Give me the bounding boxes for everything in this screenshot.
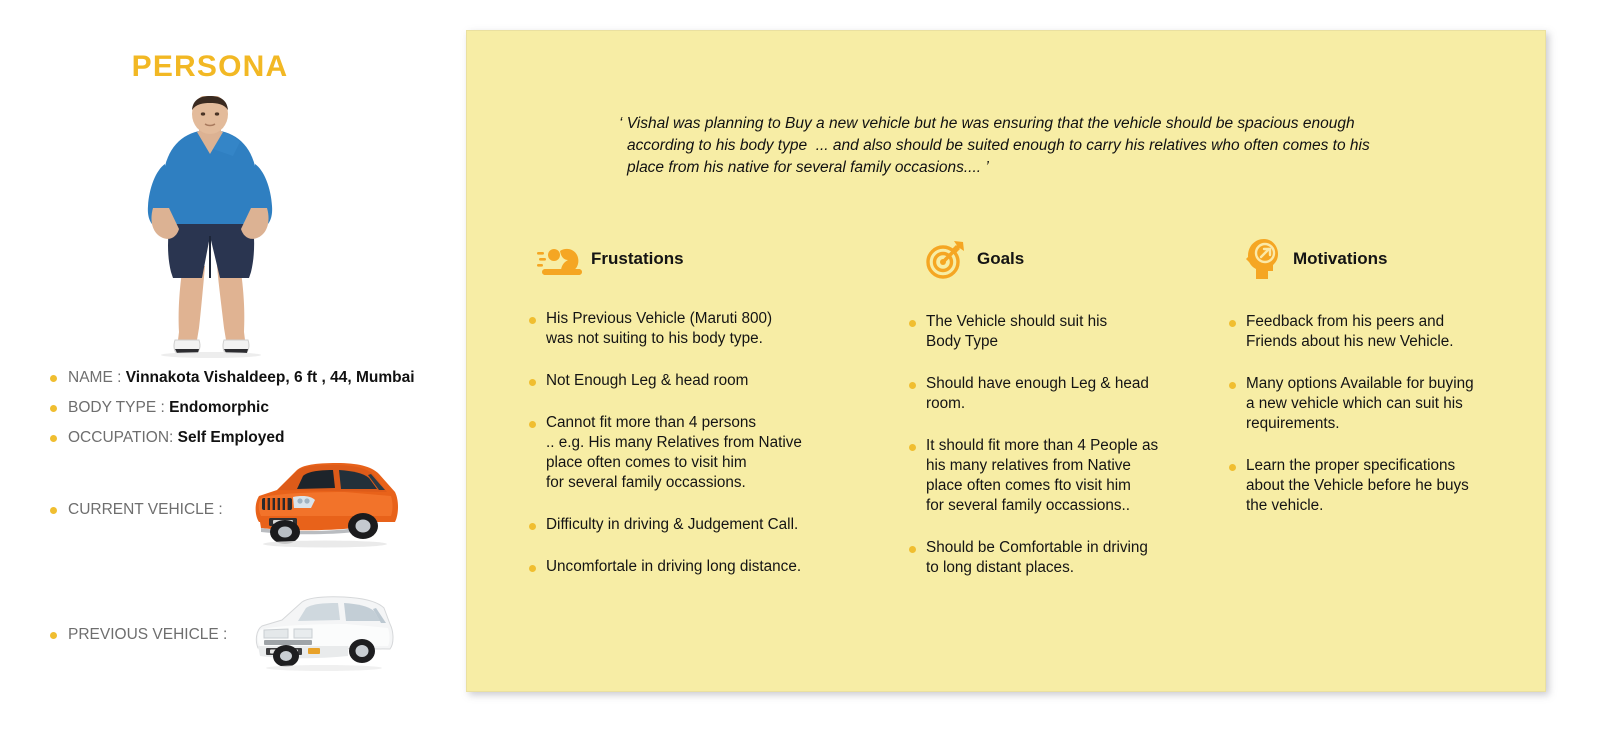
- list-item: The Vehicle should suit his Body Type: [909, 312, 1209, 352]
- quote-line-2: according to his body type ... and also …: [619, 135, 1464, 157]
- persona-attribute-list: NAME : Vinnakota Vishaldeep, 6 ft , 44, …: [50, 368, 450, 458]
- column-header-frustrations: Frustations: [537, 236, 859, 282]
- column-header-goals: Goals: [923, 236, 1209, 282]
- current-vehicle-row: CURRENT VEHICLE :: [50, 500, 223, 520]
- list-item: Many options Available for buying a new …: [1229, 374, 1529, 434]
- persona-left-panel: PERSONA: [0, 0, 452, 752]
- list-item: Learn the proper specifications about th…: [1229, 456, 1529, 516]
- bullet-icon: [529, 317, 536, 324]
- bullet-icon: [909, 546, 916, 553]
- list-item: Not Enough Leg & head room: [529, 371, 859, 391]
- bullet-icon: [909, 444, 916, 451]
- target-arrow-icon: [923, 236, 969, 282]
- column-title: Goals: [977, 249, 1024, 269]
- bullet-icon: [909, 320, 916, 327]
- column-frustrations: Frustations His Previous Vehicle (Maruti…: [529, 236, 859, 599]
- bullet-icon: [529, 523, 536, 530]
- bullet-icon: [529, 565, 536, 572]
- list-item: Should have enough Leg & head room.: [909, 374, 1209, 414]
- quote-line-3: place from his native for several family…: [619, 157, 1464, 179]
- attribute-label: BODY TYPE :: [68, 399, 169, 416]
- bullet-icon: [50, 375, 57, 382]
- goals-list: The Vehicle should suit his Body Type Sh…: [909, 312, 1209, 578]
- bullet-icon: [1229, 320, 1236, 327]
- column-goals: Goals The Vehicle should suit his Body T…: [909, 236, 1209, 600]
- persona-photo: [131, 96, 289, 358]
- page-title: PERSONA: [0, 50, 420, 84]
- list-item: Feedback from his peers and Friends abou…: [1229, 312, 1529, 352]
- previous-vehicle-label: PREVIOUS VEHICLE :: [68, 625, 227, 645]
- bullet-icon: [50, 405, 57, 412]
- bullet-icon: [1229, 382, 1236, 389]
- column-title: Motivations: [1293, 249, 1387, 269]
- bullet-icon: [1229, 464, 1236, 471]
- list-item: Uncomfortale in driving long distance.: [529, 557, 859, 577]
- current-vehicle-label: CURRENT VEHICLE :: [68, 500, 223, 520]
- column-title: Frustations: [591, 249, 684, 269]
- attribute-value: Vinnakota Vishaldeep, 6 ft , 44, Mumbai: [126, 369, 415, 386]
- persona-quote: ‘ Vishal was planning to Buy a new vehic…: [619, 113, 1464, 179]
- attribute-value: Endomorphic: [169, 399, 269, 416]
- frustrations-list: His Previous Vehicle (Maruti 800) was no…: [529, 309, 859, 577]
- list-item: His Previous Vehicle (Maruti 800) was no…: [529, 309, 859, 349]
- list-item: Should be Comfortable in driving to long…: [909, 538, 1209, 578]
- current-vehicle-image: [245, 452, 405, 553]
- attribute-label: NAME :: [68, 369, 126, 386]
- previous-vehicle-row: PREVIOUS VEHICLE :: [50, 625, 227, 645]
- bullet-icon: [50, 507, 57, 514]
- attribute-label: OCCUPATION:: [68, 429, 178, 446]
- bullet-icon: [529, 379, 536, 386]
- column-header-motivations: Motivations: [1239, 236, 1529, 282]
- attribute-name-row: NAME : Vinnakota Vishaldeep, 6 ft , 44, …: [50, 368, 450, 388]
- quote-line-1: ‘ Vishal was planning to Buy a new vehic…: [619, 113, 1464, 135]
- motivations-list: Feedback from his peers and Friends abou…: [1229, 312, 1529, 516]
- attribute-occupation-row: OCCUPATION: Self Employed: [50, 428, 450, 448]
- list-item: Cannot fit more than 4 persons .. e.g. H…: [529, 413, 859, 493]
- list-item: Difficulty in driving & Judgement Call.: [529, 515, 859, 535]
- person-lying-down-icon: [537, 236, 583, 282]
- bullet-icon: [909, 382, 916, 389]
- head-with-arrow-icon: [1239, 236, 1285, 282]
- list-item: It should fit more than 4 People as his …: [909, 436, 1209, 516]
- bullet-icon: [50, 632, 57, 639]
- attribute-value: Self Employed: [178, 429, 285, 446]
- attribute-body-type-row: BODY TYPE : Endomorphic: [50, 398, 450, 418]
- bullet-icon: [50, 435, 57, 442]
- previous-vehicle-image: [248, 586, 404, 681]
- persona-detail-panel: ‘ Vishal was planning to Buy a new vehic…: [466, 30, 1546, 692]
- bullet-icon: [529, 421, 536, 428]
- column-motivations: Motivations Feedback from his peers and …: [1229, 236, 1529, 538]
